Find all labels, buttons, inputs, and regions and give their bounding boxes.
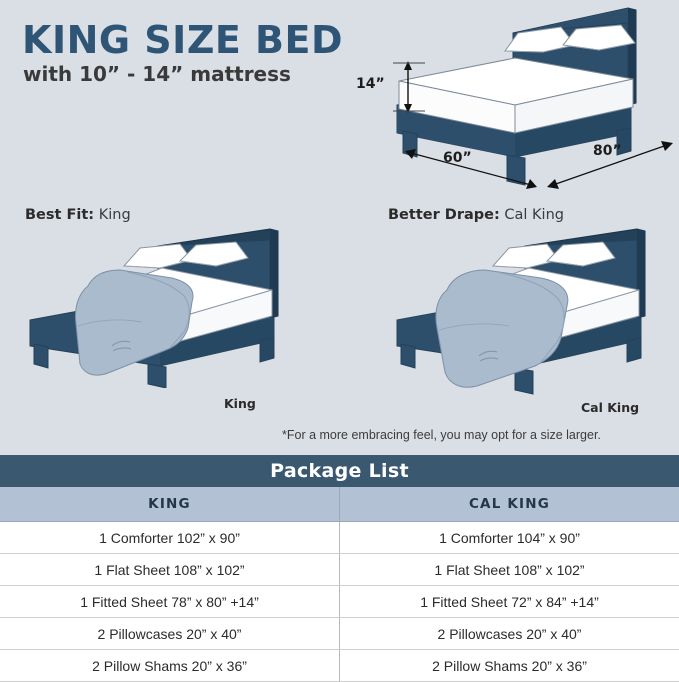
cell-king-pillow-shams: 2 Pillow Shams 20” x 36” [0, 650, 340, 682]
dimension-width-label: 60” [443, 150, 472, 166]
best-fit-caption: Best Fit: King [25, 207, 131, 223]
cell-cal-king-flat-sheet: 1 Flat Sheet 108” x 102” [340, 554, 679, 586]
package-list-title: Package List [0, 455, 679, 487]
column-header-king: KING [0, 487, 340, 522]
cell-cal-king-fitted-sheet: 1 Fitted Sheet 72” x 84” +14” [340, 586, 679, 618]
infographic-page: KING SIZE BED with 10” - 14” mattress [0, 0, 679, 679]
dimension-length-label: 80” [593, 143, 622, 159]
best-fit-caption-value: King [94, 207, 131, 223]
table-row: 1 Flat Sheet 108” x 102” 1 Flat Sheet 10… [0, 554, 679, 586]
column-header-cal-king: CAL KING [340, 487, 679, 522]
cell-king-fitted-sheet: 1 Fitted Sheet 78” x 80” +14” [0, 586, 340, 618]
best-fit-caption-bold: Best Fit: [25, 207, 94, 223]
better-drape-caption-bold: Better Drape: [388, 207, 500, 223]
package-list-table: KING CAL KING 1 Comforter 102” x 90” 1 C… [0, 487, 679, 682]
package-list-section: Package List KING CAL KING 1 Comforter 1… [0, 455, 679, 682]
cal-king-bed-label: Cal King [581, 400, 639, 415]
king-bed-illustration [20, 228, 310, 388]
better-drape-caption-value: Cal King [500, 207, 564, 223]
cal-king-bed-illustration [385, 228, 675, 396]
better-drape-caption: Better Drape: Cal King [388, 207, 564, 223]
table-row: 2 Pillow Shams 20” x 36” 2 Pillow Shams … [0, 650, 679, 682]
cell-king-flat-sheet: 1 Flat Sheet 108” x 102” [0, 554, 340, 586]
cell-cal-king-pillowcases: 2 Pillowcases 20” x 40” [340, 618, 679, 650]
page-subtitle: with 10” - 14” mattress [23, 62, 291, 86]
table-header-row: KING CAL KING [0, 487, 679, 522]
cell-cal-king-pillow-shams: 2 Pillow Shams 20” x 36” [340, 650, 679, 682]
table-row: 2 Pillowcases 20” x 40” 2 Pillowcases 20… [0, 618, 679, 650]
hero-bed-illustration [385, 5, 679, 190]
footnote: *For a more embracing feel, you may opt … [282, 428, 601, 442]
cell-king-comforter: 1 Comforter 102” x 90” [0, 522, 340, 554]
page-title: KING SIZE BED [22, 18, 343, 62]
king-bed-label: King [224, 396, 256, 411]
cell-cal-king-comforter: 1 Comforter 104” x 90” [340, 522, 679, 554]
table-row: 1 Fitted Sheet 78” x 80” +14” 1 Fitted S… [0, 586, 679, 618]
dimension-height-label: 14” [356, 76, 385, 92]
table-row: 1 Comforter 102” x 90” 1 Comforter 104” … [0, 522, 679, 554]
cell-king-pillowcases: 2 Pillowcases 20” x 40” [0, 618, 340, 650]
